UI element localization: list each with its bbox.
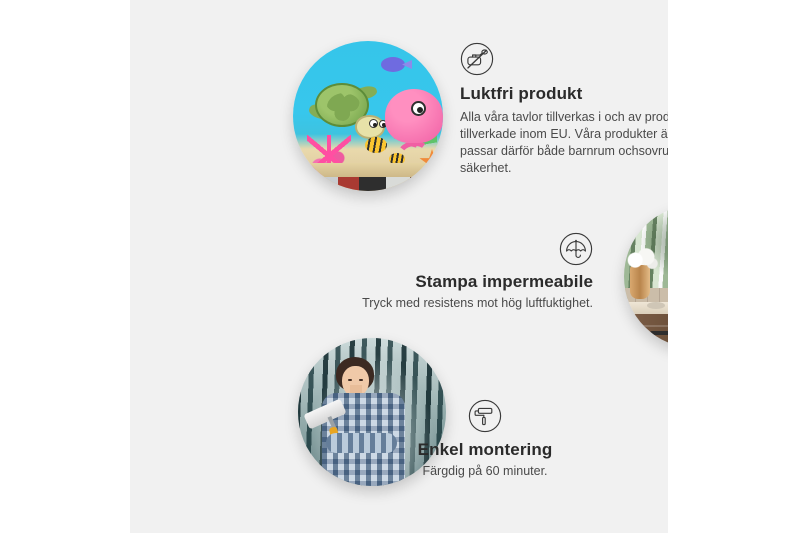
blue-fish <box>381 57 405 72</box>
feature-title: Luktfri produkt <box>460 84 668 104</box>
paint-roller-icon <box>468 399 502 433</box>
room-foreground <box>293 177 443 191</box>
cabinet-handle <box>650 331 668 335</box>
bathroom-scene <box>624 205 668 348</box>
vase <box>630 265 650 299</box>
photo-bathroom-botanical-wallpaper <box>624 205 668 348</box>
infographic-canvas: Luktfri produkt Alla våra tavlor tillver… <box>0 0 800 533</box>
feature-block-waterproof: Stampa impermeabile Tryck med resistens … <box>335 232 593 312</box>
feature-body: Färgdig på 60 minuter. <box>405 463 565 480</box>
white-flowers <box>625 248 659 270</box>
cabinet-seam <box>633 325 668 327</box>
woman-folded-arms <box>326 433 397 454</box>
octopus-body <box>385 89 443 143</box>
octopus-eye <box>411 101 426 116</box>
feature-block-odourless: Luktfri produkt Alla våra tavlor tillver… <box>460 42 668 177</box>
feature-title: Enkel montering <box>405 440 565 460</box>
underwater-scene <box>293 41 443 191</box>
umbrella-icon <box>559 232 593 266</box>
photo-underwater-cartoon-mural <box>293 41 443 191</box>
turtle-eye <box>369 119 378 128</box>
feature-title: Stampa impermeabile <box>335 272 593 292</box>
feature-body: Tryck med resistens mot hög luftfuktighe… <box>335 295 593 312</box>
no-fragrance-icon <box>460 42 494 76</box>
feature-block-mounting: Enkel montering Färgdig på 60 minuter. <box>405 399 565 480</box>
yellow-fish <box>365 137 387 153</box>
infographic-panel: Luktfri produkt Alla våra tavlor tillver… <box>130 0 668 533</box>
feature-body: Alla våra tavlor tillverkas i och av pro… <box>460 109 668 177</box>
